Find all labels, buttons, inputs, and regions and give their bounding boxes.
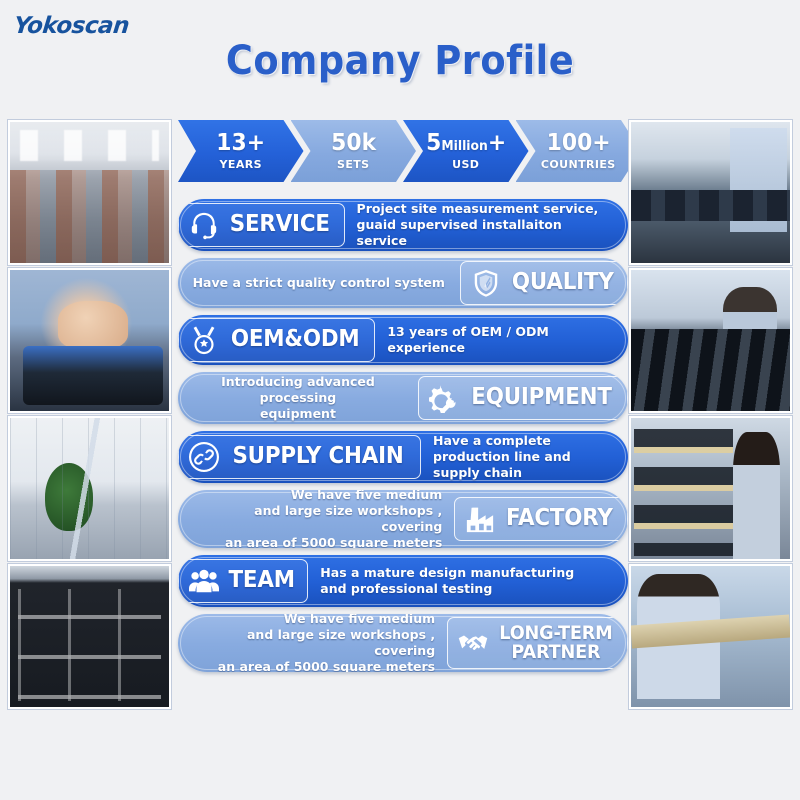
feature-label-team: TEAM: [228, 569, 294, 592]
shield-icon: [471, 268, 501, 298]
gear-wrench-icon: [429, 383, 459, 413]
feature-row-oem[interactable]: OEM&ODM13 years of OEM / ODM experience: [178, 315, 628, 365]
page-header: Yokoscan Company Profile: [0, 0, 800, 110]
chain-link-icon: [189, 442, 219, 472]
stat-chevron-sets: 50kSETS: [291, 120, 417, 182]
right-photo-column: [629, 120, 792, 712]
photo-office-corridor-image: [10, 418, 169, 559]
photo-office-corridor: [8, 416, 171, 561]
feature-label-oem: OEM&ODM: [231, 328, 360, 351]
photo-hands-assembly-image: [10, 270, 169, 411]
feature-description-supply-chain: Have a complete production line and supp…: [421, 433, 628, 482]
feature-description-team: Has a mature design manufacturing and pr…: [308, 565, 628, 598]
stat-number: 50k: [331, 132, 376, 155]
stat-unit: Million: [441, 139, 488, 154]
feature-description-oem: 13 years of OEM / ODM experience: [375, 324, 628, 357]
photo-worker-at-bench: [629, 120, 792, 265]
photo-product-display-cabinet: [8, 564, 171, 709]
headset-icon: [189, 210, 219, 240]
feature-rows: SERVICEProject site measurement service,…: [178, 199, 628, 672]
stat-label: YEARS: [220, 158, 262, 171]
photo-worker-at-bench-image: [631, 122, 790, 263]
feature-label-equipment: EQUIPMENT: [471, 386, 612, 409]
feature-label-service: SERVICE: [230, 213, 330, 236]
stat-number: 13+: [216, 132, 265, 155]
photo-office-workstations-image: [10, 122, 169, 263]
feature-label-supply-chain: SUPPLY CHAIN: [232, 445, 403, 468]
feature-row-supply-chain[interactable]: SUPPLY CHAINHave a complete production l…: [178, 431, 628, 483]
stat-number: 5Million+: [426, 132, 506, 155]
company-logo: Yokoscan: [13, 13, 131, 39]
photo-device-rows-image: [631, 270, 790, 411]
feature-row-factory[interactable]: We have five medium and large size works…: [178, 490, 628, 548]
feature-label-long-term-partner: LONG-TERM PARTNER: [499, 624, 612, 663]
photo-workers-testing: [629, 564, 792, 709]
feature-badge-factory[interactable]: FACTORY: [454, 497, 628, 541]
page-title: Company Profile: [32, 38, 768, 84]
feature-badge-long-term-partner[interactable]: LONG-TERM PARTNER: [447, 617, 628, 670]
feature-row-long-term-partner[interactable]: We have five medium and large size works…: [178, 614, 628, 672]
feature-row-team[interactable]: TEAMHas a mature design manufacturing an…: [178, 555, 628, 607]
photo-device-rows: [629, 268, 792, 413]
feature-description-equipment: Introducing advanced processing equipmen…: [178, 374, 418, 423]
feature-badge-supply-chain[interactable]: SUPPLY CHAIN: [178, 435, 421, 479]
photo-product-display-cabinet-image: [10, 566, 169, 707]
stat-chevron-usd: 5Million+USD: [403, 120, 529, 182]
stat-label: USD: [452, 158, 479, 171]
feature-label-quality: QUALITY: [511, 271, 613, 294]
feature-badge-quality[interactable]: QUALITY: [460, 261, 628, 305]
people-icon: [189, 566, 219, 596]
photo-worker-shelf-inspection-image: [631, 418, 790, 559]
medal-icon: [189, 325, 219, 355]
photo-hands-assembly: [8, 268, 171, 413]
feature-row-service[interactable]: SERVICEProject site measurement service,…: [178, 199, 628, 251]
left-photo-column: [8, 120, 171, 712]
feature-row-equipment[interactable]: Introducing advanced processing equipmen…: [178, 372, 628, 424]
photo-office-workstations: [8, 120, 171, 265]
feature-label-factory: FACTORY: [506, 507, 613, 530]
feature-badge-equipment[interactable]: EQUIPMENT: [418, 376, 628, 420]
feature-badge-team[interactable]: TEAM: [178, 559, 308, 603]
factory-icon: [465, 504, 495, 534]
feature-badge-service[interactable]: SERVICE: [178, 203, 345, 247]
stats-banner: 13+YEARS50kSETS5Million+USD100+COUNTRIES: [178, 120, 628, 192]
content-column: 13+YEARS50kSETS5Million+USD100+COUNTRIES…: [178, 120, 628, 672]
stat-chevron-years: 13+YEARS: [178, 120, 304, 182]
stat-label: COUNTRIES: [541, 158, 616, 171]
photo-worker-shelf-inspection: [629, 416, 792, 561]
feature-description-service: Project site measurement service, guaid …: [345, 201, 628, 250]
feature-description-factory: We have five medium and large size works…: [178, 490, 454, 548]
feature-description-long-term-partner: We have five medium and large size works…: [178, 614, 447, 672]
feature-row-quality[interactable]: Have a strict quality control systemQUAL…: [178, 258, 628, 308]
stat-number: 100+: [546, 132, 610, 155]
feature-badge-oem[interactable]: OEM&ODM: [178, 318, 375, 362]
feature-description-quality: Have a strict quality control system: [178, 275, 460, 291]
handshake-icon: [458, 628, 488, 658]
stat-chevron-countries: 100+COUNTRIES: [516, 120, 642, 182]
stat-label: SETS: [337, 158, 369, 171]
photo-workers-testing-image: [631, 566, 790, 707]
